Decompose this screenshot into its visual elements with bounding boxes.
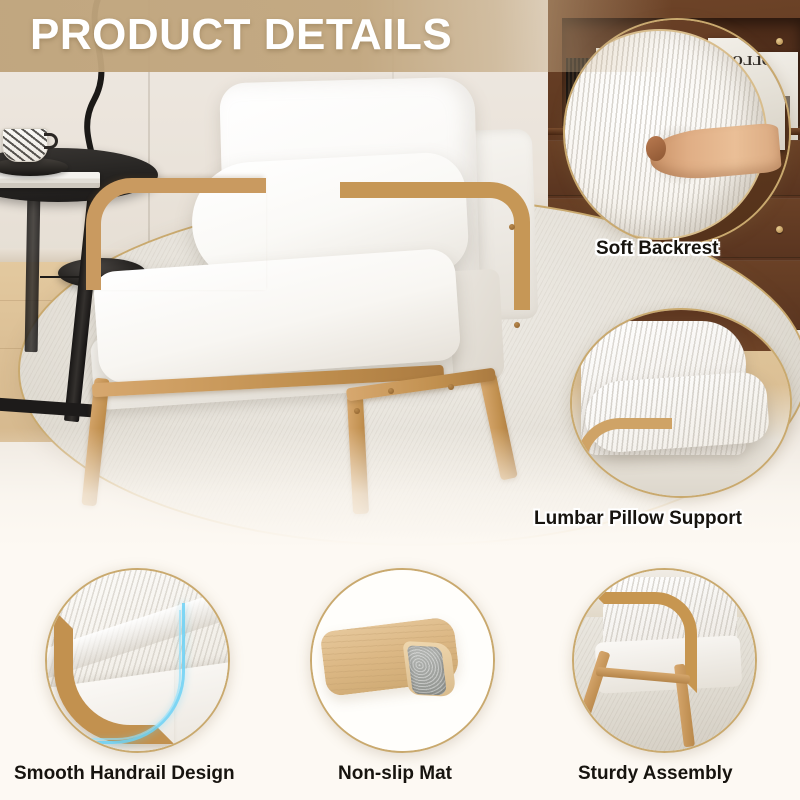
caption-sturdy-assembly: Sturdy Assembly bbox=[578, 763, 733, 785]
caption-lumbar-pillow-support: Lumbar Pillow Support bbox=[534, 508, 742, 530]
caption-smooth-handrail-design: Smooth Handrail Design bbox=[14, 763, 235, 785]
chair-joint-peg bbox=[509, 224, 515, 230]
callout-felt-pad bbox=[407, 645, 448, 695]
side-table-leg bbox=[25, 192, 41, 352]
page-title: PRODUCT DETAILS bbox=[30, 12, 452, 58]
callout-wood-arm bbox=[576, 418, 672, 498]
caption-soft-backrest: Soft Backrest bbox=[596, 238, 719, 260]
callout-knuckle bbox=[646, 136, 666, 161]
chair-joint-peg bbox=[514, 322, 520, 328]
chair-arm-right bbox=[340, 182, 530, 310]
callout-non-slip-mat bbox=[310, 568, 495, 753]
chair-joint-peg bbox=[354, 408, 360, 414]
callout-lumbar-pillow bbox=[570, 308, 792, 498]
chair-joint-peg bbox=[448, 384, 454, 390]
caption-non-slip-mat: Non-slip Mat bbox=[338, 763, 452, 785]
chair-leg-rear-right bbox=[479, 373, 518, 480]
chair-arm-left bbox=[86, 178, 266, 290]
callout-smooth-handrail bbox=[45, 568, 230, 753]
product-detail-image: FOLLOW bbox=[0, 0, 800, 800]
callout-sturdy-assembly bbox=[572, 568, 757, 753]
chair-joint-peg bbox=[388, 388, 394, 394]
ceramic-mug bbox=[2, 128, 48, 162]
armchair bbox=[110, 78, 550, 508]
header-banner: PRODUCT DETAILS bbox=[0, 0, 800, 72]
